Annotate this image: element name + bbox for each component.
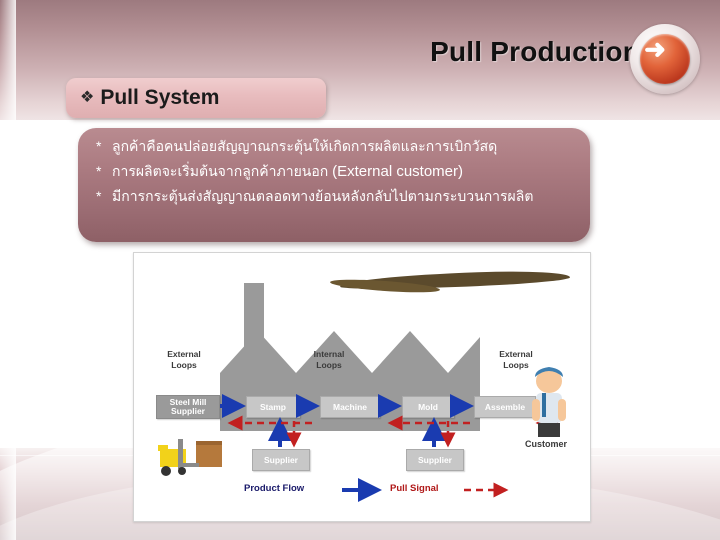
list-item: * การผลิตจะเริ่มต้นจากลูกค้าภายนอก (Exte… — [96, 163, 574, 182]
bullet-marker: * — [96, 188, 112, 204]
label-customer: Customer — [516, 439, 576, 449]
body-text-panel: * ลูกค้าคือคนปล่อยสัญญาณกระตุ้นให้เกิดกา… — [78, 128, 590, 242]
section-heading-label: Pull System — [100, 86, 219, 110]
forklift-icon — [152, 431, 244, 483]
page-title: Pull Production — [250, 36, 640, 68]
slide: Pull Production ➜ ❖ Pull System * ลูกค้า… — [0, 0, 720, 540]
diamond-bullet-icon: ❖ — [80, 90, 94, 106]
bullet-text: ลูกค้าคือคนปล่อยสัญญาณกระตุ้นให้เกิดการผ… — [112, 138, 497, 157]
arrow-right-icon: ➜ — [630, 24, 680, 74]
bullet-marker: * — [96, 138, 112, 154]
pull-production-diagram: ExternalLoops InternalLoops ExternalLoop… — [133, 252, 591, 522]
list-item: * มีการกระตุ้นส่งสัญญาณตลอดทางย้อนหลังกล… — [96, 188, 574, 207]
bullet-marker: * — [96, 163, 112, 179]
background-left-edge — [0, 0, 16, 540]
customer-figure-icon — [522, 365, 576, 441]
next-slide-button[interactable]: ➜ — [630, 24, 700, 94]
section-heading: ❖ Pull System — [66, 78, 326, 118]
bullet-text: การผลิตจะเริ่มต้นจากลูกค้าภายนอก (Extern… — [112, 163, 463, 182]
legend-label-pull-signal: Pull Signal — [390, 483, 439, 494]
legend-label-product-flow: Product Flow — [244, 483, 304, 494]
list-item: * ลูกค้าคือคนปล่อยสัญญาณกระตุ้นให้เกิดกา… — [96, 138, 574, 157]
bullet-text: มีการกระตุ้นส่งสัญญาณตลอดทางย้อนหลังกลับ… — [112, 188, 533, 207]
